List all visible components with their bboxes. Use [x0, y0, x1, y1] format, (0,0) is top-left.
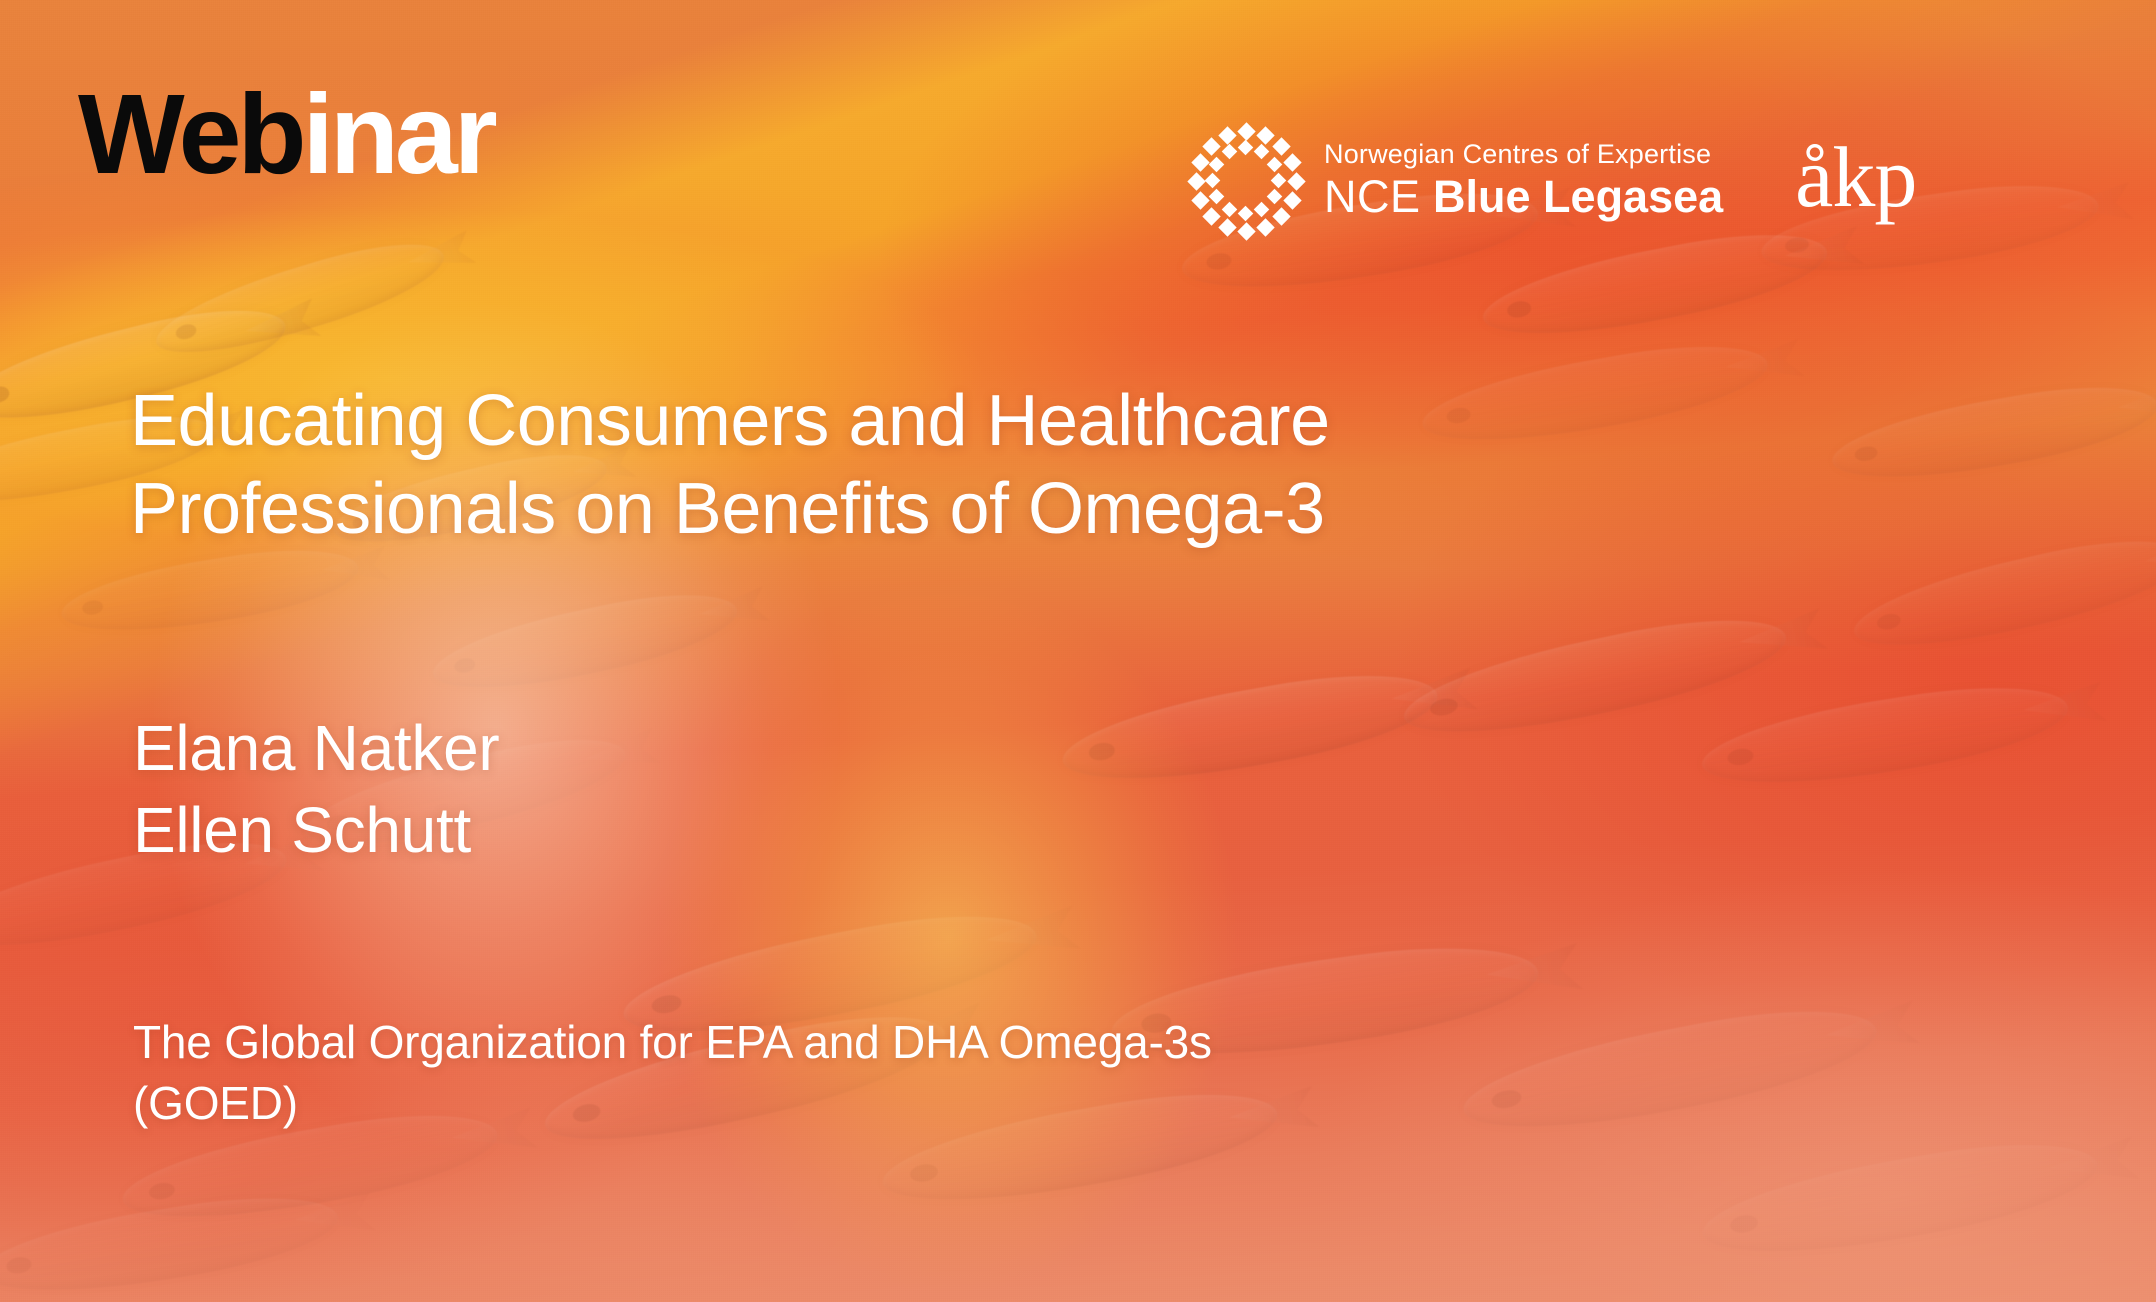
nce-name-lockup: NCE Blue Legasea — [1324, 172, 1723, 222]
organization-name-line-1: The Global Organization for EPA and DHA … — [133, 1012, 1212, 1073]
nce-brand-name: Blue Legasea — [1433, 171, 1723, 222]
page-title: Educating Consumers and Healthcare Profe… — [130, 378, 1330, 554]
webinar-kicker-light-segment: inar — [302, 71, 493, 197]
presenter-name: Ellen Schutt — [133, 790, 499, 872]
page-title-line-2: Professionals on Benefits of Omega-3 — [130, 466, 1330, 554]
presenter-name: Elana Natker — [133, 708, 499, 790]
webinar-kicker: Webinar — [78, 78, 494, 191]
nce-blue-legasea-logo: Norwegian Centres of Expertise NCE Blue … — [1190, 125, 1723, 237]
webinar-kicker-dark-segment: Web — [78, 71, 302, 197]
organization-name: The Global Organization for EPA and DHA … — [133, 1012, 1212, 1134]
organization-name-line-2: (GOED) — [133, 1073, 1212, 1134]
presenter-list: Elana Natker Ellen Schutt — [133, 708, 499, 872]
page-title-line-1: Educating Consumers and Healthcare — [130, 378, 1330, 466]
nce-abbreviation: NCE — [1324, 171, 1421, 222]
logo-row: Norwegian Centres of Expertise NCE Blue … — [1190, 125, 1916, 237]
nce-tagline: Norwegian Centres of Expertise — [1324, 139, 1723, 170]
nce-logo-text: Norwegian Centres of Expertise NCE Blue … — [1324, 139, 1723, 222]
akp-logo: åkp — [1795, 134, 1916, 220]
webinar-title-slide: Webinar — [0, 0, 2156, 1302]
nce-ring-icon — [1190, 125, 1302, 237]
